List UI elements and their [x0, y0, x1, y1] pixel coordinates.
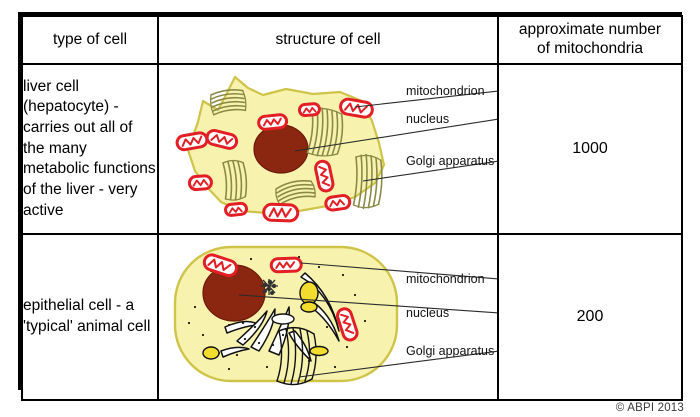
label-nucleus: nucleus [406, 113, 449, 126]
epithelial-cell-structure-cell: mitochondrion nucleus Golgi apparatus [158, 234, 498, 400]
liver-cell-description: liver cell (hepatocyte) - carries out al… [22, 64, 158, 234]
liver-cell-diagram: mitochondrion nucleus Golgi apparatus [159, 65, 497, 233]
column-header-structure-of-cell: structure of cell [158, 16, 498, 64]
epithelial-cell-description: epithelial cell - a 'typical' animal cel… [22, 234, 158, 400]
header-line-2: of mitochondria [537, 40, 643, 57]
copyright-notice: © ABPI 2013 [616, 402, 684, 414]
comparison-table: type of cell structure of cell approxima… [18, 12, 682, 390]
label-golgi-apparatus: Golgi apparatus [406, 345, 494, 358]
liver-mitochondria-count: 1000 [498, 64, 682, 234]
cell-comparison-grid: type of cell structure of cell approxima… [21, 15, 683, 401]
liver-cell-structure-cell: mitochondrion nucleus Golgi apparatus [158, 64, 498, 234]
label-mitochondrion: mitochondrion [406, 85, 485, 98]
table-row: epithelial cell - a 'typical' animal cel… [22, 234, 682, 400]
table-row: liver cell (hepatocyte) - carries out al… [22, 64, 682, 234]
table-header-row: type of cell structure of cell approxima… [22, 16, 682, 64]
column-header-mitochondria-count: approximate number of mitochondria [498, 16, 682, 64]
header-line-1: approximate number [519, 21, 661, 38]
epithelial-cell-diagram: mitochondrion nucleus Golgi apparatus [159, 235, 497, 399]
liver-nucleus [254, 125, 308, 173]
epithelial-mitochondria-count: 200 [498, 234, 682, 400]
label-mitochondrion: mitochondrion [406, 273, 485, 286]
figure-root: type of cell structure of cell approxima… [0, 0, 700, 417]
label-golgi-apparatus: Golgi apparatus [406, 155, 494, 168]
column-header-type-of-cell: type of cell [22, 16, 158, 64]
label-nucleus: nucleus [406, 307, 449, 320]
